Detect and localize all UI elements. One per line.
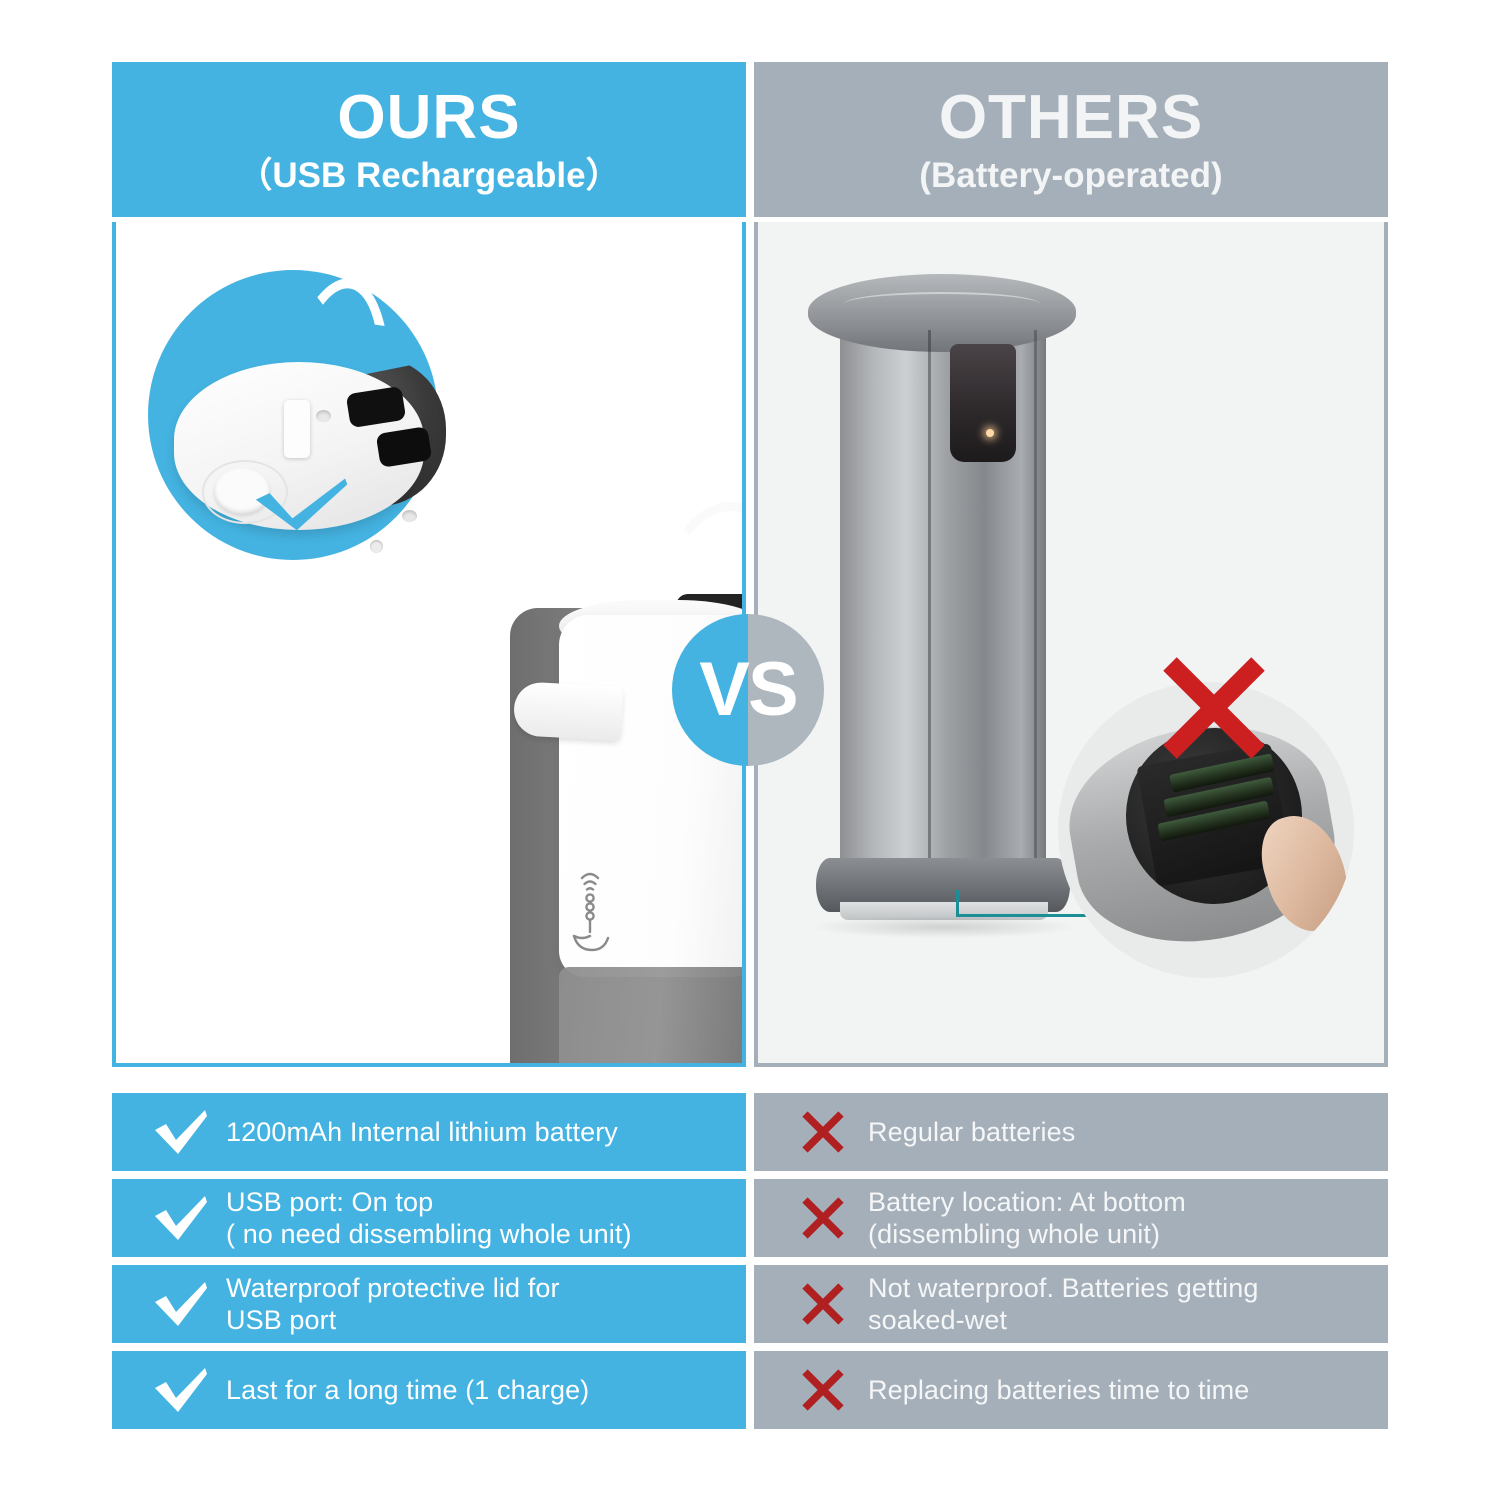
feature-list-others: Regular batteries Battery location: At b…	[754, 1093, 1388, 1437]
body-seam-left	[928, 330, 931, 875]
hand-sensor-icon	[568, 862, 612, 958]
feature-text: 1200mAh Internal lithium battery	[220, 1116, 618, 1148]
feature-text: USB port: On top ( no need dissembling w…	[220, 1186, 632, 1251]
ours-product-scene	[116, 222, 742, 1063]
feature-row-ours-2: USB port: On top ( no need dissembling w…	[112, 1179, 746, 1257]
cross-icon	[784, 1195, 862, 1241]
cross-icon	[784, 1109, 862, 1155]
header-others-title: OTHERS	[939, 87, 1203, 149]
lid-vent-hole-icon	[402, 510, 417, 522]
check-mark-icon	[253, 478, 351, 531]
infrared-sensor-window	[950, 344, 1016, 462]
sensor-led-icon	[986, 429, 994, 437]
check-icon	[142, 1282, 220, 1326]
cross-icon	[784, 1367, 862, 1413]
header-others: OTHERS (Battery-operated)	[754, 62, 1388, 217]
feature-row-ours-4: Last for a long time (1 charge)	[112, 1351, 746, 1429]
feature-text: Battery location: At bottom (dissembling…	[862, 1186, 1186, 1251]
check-icon	[142, 1110, 220, 1154]
dispenser-nozzle	[513, 681, 624, 741]
feature-list-ours: 1200mAh Internal lithium battery USB por…	[112, 1093, 746, 1437]
feature-text: Waterproof protective lid for USB port	[220, 1272, 560, 1337]
vs-badge: VS	[672, 614, 824, 766]
feature-row-ours-3: Waterproof protective lid for USB port	[112, 1265, 746, 1343]
steel-top-seam	[844, 292, 1040, 316]
feature-text: Regular batteries	[862, 1116, 1075, 1148]
lid-screw-icon	[370, 540, 383, 553]
body-seam-right	[1034, 330, 1037, 875]
header-ours: OURS （USB Rechargeable）	[112, 62, 746, 217]
product-shadow	[812, 916, 1076, 938]
feature-text: Replacing batteries time to time	[862, 1374, 1249, 1406]
feature-row-others-1: Regular batteries	[754, 1093, 1388, 1171]
others-product-scene	[758, 222, 1384, 1063]
red-cross-icon	[1158, 652, 1270, 764]
feature-row-ours-1: 1200mAh Internal lithium battery	[112, 1093, 746, 1171]
feature-text: Last for a long time (1 charge)	[220, 1374, 589, 1406]
feature-row-others-4: Replacing batteries time to time	[754, 1351, 1388, 1429]
header-ours-subtitle: （USB Rechargeable）	[237, 158, 620, 193]
feature-row-others-3: Not waterproof. Batteries getting soaked…	[754, 1265, 1388, 1343]
comparison-infographic: OURS （USB Rechargeable） OTHERS (Battery-…	[0, 0, 1500, 1500]
feature-row-others-2: Battery location: At bottom (dissembling…	[754, 1179, 1388, 1257]
lid-vent-hole-icon	[316, 410, 331, 422]
vs-badge-label: VS	[699, 652, 796, 728]
check-icon	[142, 1196, 220, 1240]
product-image-panel-others	[754, 222, 1388, 1067]
header-others-subtitle: (Battery-operated)	[919, 158, 1222, 193]
cross-icon	[784, 1281, 862, 1327]
product-image-panel-ours	[112, 222, 746, 1067]
header-ours-title: OURS	[337, 87, 520, 149]
usb-connector-plug	[284, 400, 310, 458]
callout-line-vertical	[956, 890, 959, 916]
feature-text: Not waterproof. Batteries getting soaked…	[862, 1272, 1259, 1337]
check-icon	[142, 1368, 220, 1412]
